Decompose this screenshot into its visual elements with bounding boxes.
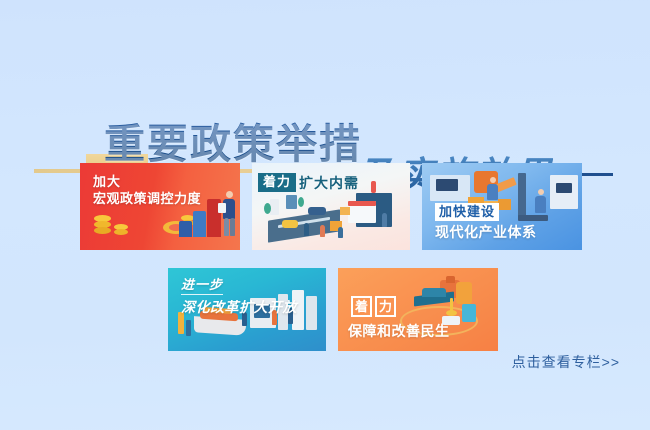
card-5-lead-char-2: 力: [375, 296, 396, 317]
card-3-lead: 加快建设: [435, 203, 499, 221]
view-column-link[interactable]: 点击查看专栏>>: [512, 352, 620, 372]
card-1-lead: 加大: [93, 173, 201, 190]
card-2-main: 扩大内需: [299, 175, 359, 191]
policy-card-reform-opening[interactable]: 进一步 深化改革扩大开放: [168, 268, 326, 351]
banner-title-block: 重要政策举措 及实施效果: [0, 58, 650, 138]
card-2-lead: 着力: [258, 173, 296, 192]
policy-card-modern-industry[interactable]: 加快建设 现代化产业体系: [422, 163, 582, 250]
card-4-text: 进一步 深化改革扩大开放: [181, 276, 297, 317]
card-5-lead-group: 着 力: [351, 296, 396, 317]
card-3-text: 加快建设 现代化产业体系: [435, 203, 537, 242]
policy-card-expand-demand[interactable]: 着力 扩大内需: [252, 163, 410, 250]
policy-card-peoples-livelihood[interactable]: 着 力 保障和改善民生: [338, 268, 498, 351]
card-3-main: 现代化产业体系: [435, 223, 537, 242]
card-5-lead-char-1: 着: [351, 296, 372, 317]
card-2-text: 着力 扩大内需: [258, 173, 359, 192]
policy-banner: 重要政策举措 及实施效果 加大 宏观政策调控力度: [0, 0, 650, 430]
card-4-main: 深化改革扩大开放: [181, 298, 297, 317]
card-5-main: 保障和改善民生: [348, 321, 450, 341]
policy-card-macro-regulation[interactable]: 加大 宏观政策调控力度: [80, 163, 240, 250]
card-1-text: 加大 宏观政策调控力度: [93, 173, 201, 208]
card-1-main: 宏观政策调控力度: [93, 190, 201, 208]
banner-title-line-1: 重要政策举措: [104, 121, 362, 167]
card-4-lead: 进一步: [181, 276, 223, 295]
